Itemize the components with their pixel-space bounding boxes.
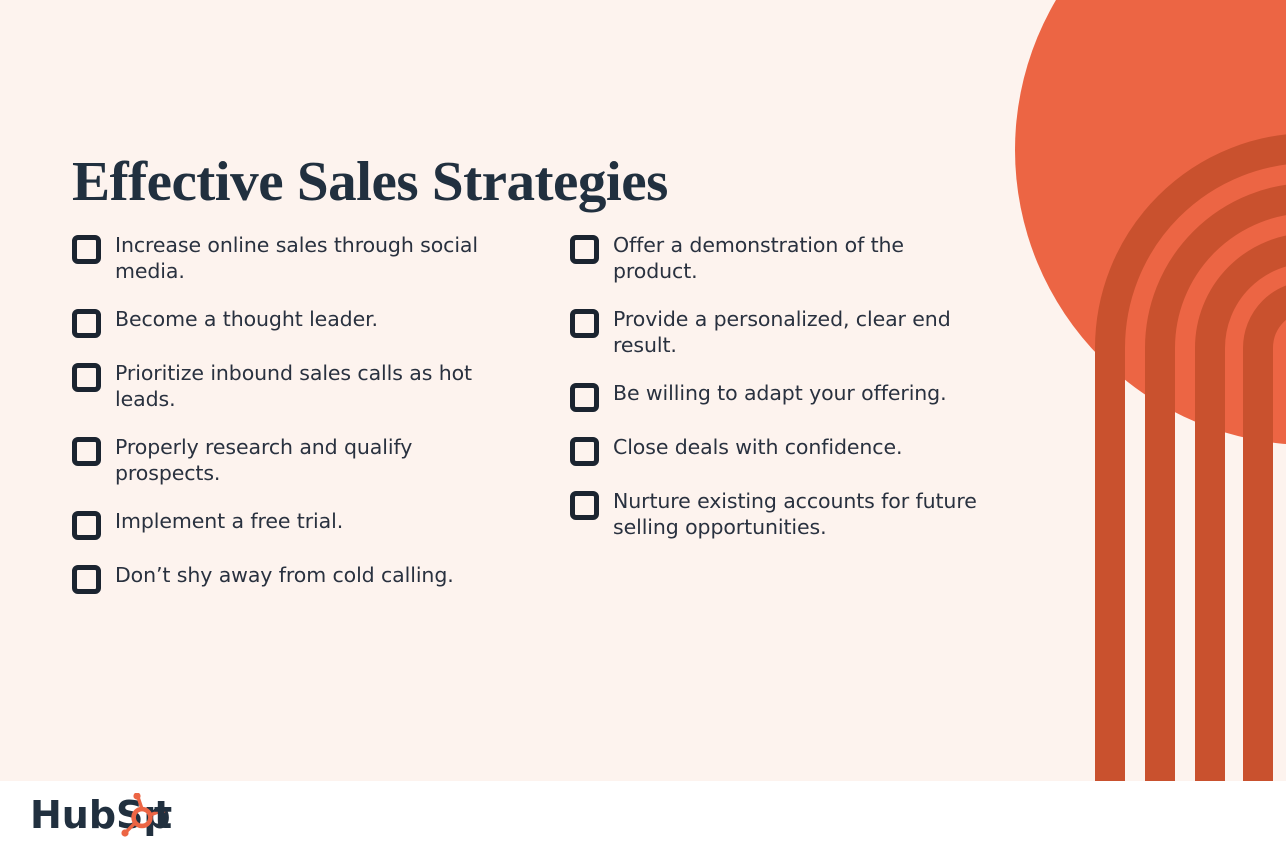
list-item-label: Increase online sales through social med… (115, 232, 485, 284)
list-item[interactable]: Close deals with confidence. (570, 434, 1000, 466)
orange-circle (1015, 0, 1286, 445)
checkbox-icon[interactable] (72, 309, 101, 338)
footer-bar: HubSp t (0, 781, 1286, 854)
list-item[interactable]: Implement a free trial. (72, 508, 512, 540)
decorative-graphic (956, 0, 1286, 781)
page-title: Effective Sales Strategies (72, 152, 668, 212)
checkbox-icon[interactable] (72, 565, 101, 594)
checkbox-icon[interactable] (570, 383, 599, 412)
checkbox-icon[interactable] (570, 235, 599, 264)
checklist-card: Effective Sales Strategies Increase onli… (0, 0, 1286, 781)
checkbox-icon[interactable] (570, 309, 599, 338)
slide-canvas: Effective Sales Strategies Increase onli… (0, 0, 1286, 854)
list-item[interactable]: Properly research and qualify prospects. (72, 434, 512, 486)
checkbox-icon[interactable] (570, 437, 599, 466)
list-item-label: Close deals with confidence. (613, 434, 902, 460)
orange-shapes-svg (956, 0, 1286, 781)
hubspot-wordmark-after: t (154, 793, 172, 837)
list-item-label: Implement a free trial. (115, 508, 343, 534)
hubspot-logo[interactable]: HubSp t (30, 793, 220, 839)
list-item[interactable]: Provide a personalized, clear end result… (570, 306, 1000, 358)
checklist-column-right: Offer a demonstration of the product. Pr… (570, 232, 1000, 562)
list-item-label: Properly research and qualify prospects. (115, 434, 485, 486)
list-item[interactable]: Don’t shy away from cold calling. (72, 562, 512, 594)
list-item[interactable]: Nurture existing accounts for future sel… (570, 488, 1000, 540)
list-item[interactable]: Become a thought leader. (72, 306, 512, 338)
list-item-label: Be willing to adapt your offering. (613, 380, 947, 406)
checkbox-icon[interactable] (72, 235, 101, 264)
checkbox-icon[interactable] (72, 437, 101, 466)
checkbox-icon[interactable] (72, 511, 101, 540)
list-item[interactable]: Be willing to adapt your offering. (570, 380, 1000, 412)
checkbox-icon[interactable] (72, 363, 101, 392)
list-item[interactable]: Increase online sales through social med… (72, 232, 512, 284)
list-item-label: Nurture existing accounts for future sel… (613, 488, 985, 540)
orange-arches (1110, 148, 1286, 781)
list-item-label: Provide a personalized, clear end result… (613, 306, 985, 358)
list-item[interactable]: Prioritize inbound sales calls as hot le… (72, 360, 512, 412)
hubspot-logo-icon: HubSp t (30, 793, 220, 839)
list-item-label: Offer a demonstration of the product. (613, 232, 985, 284)
list-item-label: Become a thought leader. (115, 306, 378, 332)
list-item-label: Prioritize inbound sales calls as hot le… (115, 360, 485, 412)
list-item-label: Don’t shy away from cold calling. (115, 562, 454, 588)
checklist-column-left: Increase online sales through social med… (72, 232, 512, 616)
list-item[interactable]: Offer a demonstration of the product. (570, 232, 1000, 284)
checkbox-icon[interactable] (570, 491, 599, 520)
